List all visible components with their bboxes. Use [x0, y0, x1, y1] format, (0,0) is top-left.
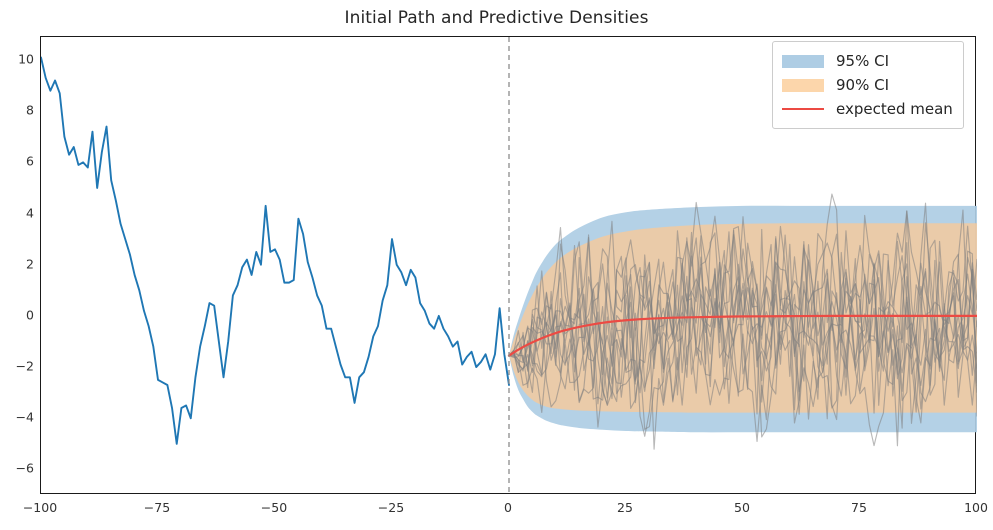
legend-item-90-ci[interactable]: 90% CI [782, 73, 953, 97]
x-axis-tick-labels: −100−75−50−250255075100 [40, 500, 976, 524]
x-tick-label: −75 [144, 500, 170, 515]
y-tick-label: 6 [2, 154, 34, 169]
y-tick-label: 0 [2, 307, 34, 322]
legend-swatch-90-ci [782, 79, 824, 92]
x-tick-label: −25 [378, 500, 404, 515]
chart-title: Initial Path and Predictive Densities [0, 8, 993, 28]
legend-label-95-ci: 95% CI [836, 52, 889, 70]
x-tick-label: 100 [964, 500, 988, 515]
x-tick-label: −50 [261, 500, 287, 515]
legend-item-95-ci[interactable]: 95% CI [782, 49, 953, 73]
y-tick-label: 10 [2, 52, 34, 67]
y-tick-label: −2 [2, 359, 34, 374]
legend-swatch-expected-mean [782, 103, 824, 116]
y-axis-tick-labels: 1086420−2−4−6 [0, 36, 34, 494]
observed-path-line [41, 57, 509, 443]
y-tick-label: 8 [2, 103, 34, 118]
legend-swatch-95-ci [782, 55, 824, 68]
y-tick-label: 2 [2, 256, 34, 271]
legend-label-expected-mean: expected mean [836, 100, 953, 118]
y-tick-label: −6 [2, 461, 34, 476]
chart-figure: Initial Path and Predictive Densities 10… [0, 0, 993, 530]
legend-label-90-ci: 90% CI [836, 76, 889, 94]
x-tick-label: −100 [23, 500, 57, 515]
x-tick-label: 75 [851, 500, 867, 515]
x-tick-label: 25 [617, 500, 633, 515]
legend-item-expected-mean[interactable]: expected mean [782, 97, 953, 121]
x-tick-label: 50 [734, 500, 750, 515]
chart-legend[interactable]: 95% CI 90% CI expected mean [772, 41, 964, 129]
y-tick-label: 4 [2, 205, 34, 220]
x-tick-label: 0 [504, 500, 512, 515]
y-tick-label: −4 [2, 410, 34, 425]
